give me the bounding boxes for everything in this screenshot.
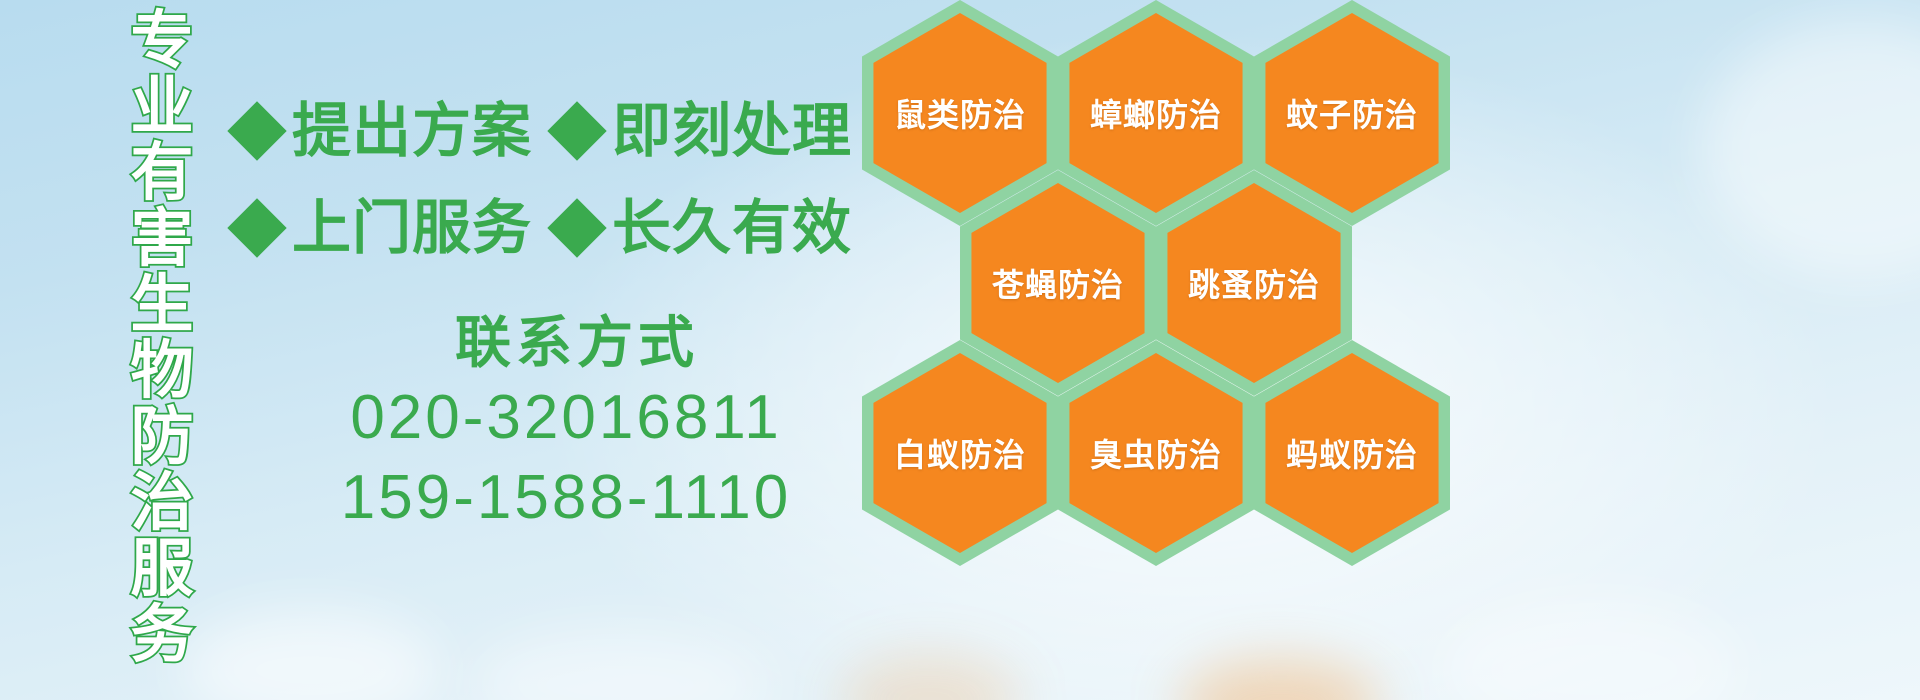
service-hex-ant[interactable]: 蚂蚁防治: [1254, 340, 1450, 566]
phone-number-landline[interactable]: 020-32016811: [256, 378, 876, 458]
feature-row: 上门服务 长久有效: [236, 179, 876, 276]
diamond-icon: [547, 101, 606, 160]
service-hex-label: 臭虫防治: [1058, 340, 1254, 566]
feature-item: 即刻处理: [556, 101, 852, 161]
background-blur-blob: [1700, 20, 1920, 280]
diamond-icon: [227, 198, 286, 257]
vertical-headline-char: 生: [131, 272, 194, 338]
background-blur-blob: [180, 610, 440, 700]
feature-label: 即刻处理: [612, 101, 852, 161]
vertical-headline-char: 有: [131, 140, 194, 206]
feature-list: 提出方案 即刻处理 上门服务 长久有效: [236, 82, 876, 276]
vertical-headline-char: 治: [131, 470, 194, 536]
vertical-headline-char: 务: [131, 602, 194, 668]
pest-control-banner: 专 业 有 害 生 物 防 治 服 务 提出方案 即刻处理 上门服务: [0, 0, 1920, 700]
contact-block: 联系方式 020-32016811 159-1588-1110: [236, 308, 876, 538]
feature-label: 长久有效: [612, 198, 852, 258]
feature-item: 上门服务: [236, 198, 532, 258]
background-blur-blob: [840, 655, 1020, 700]
feature-label: 上门服务: [292, 198, 532, 258]
vertical-headline: 专 业 有 害 生 物 防 治 服 务: [108, 8, 216, 628]
background-blur-blob: [470, 630, 770, 700]
contact-title: 联系方式: [278, 308, 876, 378]
diamond-icon: [227, 101, 286, 160]
background-blur-blob: [1440, 600, 1740, 700]
service-hex-label: 白蚁防治: [862, 340, 1058, 566]
feature-row: 提出方案 即刻处理: [236, 82, 876, 179]
service-hex-bedbug[interactable]: 臭虫防治: [1058, 340, 1254, 566]
vertical-headline-char: 防: [131, 404, 194, 470]
phone-number-mobile[interactable]: 159-1588-1110: [256, 458, 876, 538]
vertical-headline-char: 服: [131, 536, 194, 602]
vertical-headline-char: 害: [131, 206, 194, 272]
feature-label: 提出方案: [292, 101, 532, 161]
service-honeycomb-grid: 鼠类防治 蟑螂防治 蚊子防治 苍蝇防治 跳蚤防治 白蚁防治: [862, 0, 1462, 554]
service-hex-label: 蚂蚁防治: [1254, 340, 1450, 566]
diamond-icon: [547, 198, 606, 257]
vertical-headline-char: 专: [131, 8, 194, 74]
vertical-headline-char: 物: [131, 338, 194, 404]
vertical-headline-char: 业: [131, 74, 194, 140]
feature-item: 提出方案: [236, 101, 532, 161]
background-blur-blob: [1180, 660, 1380, 700]
feature-item: 长久有效: [556, 198, 852, 258]
service-hex-termite[interactable]: 白蚁防治: [862, 340, 1058, 566]
